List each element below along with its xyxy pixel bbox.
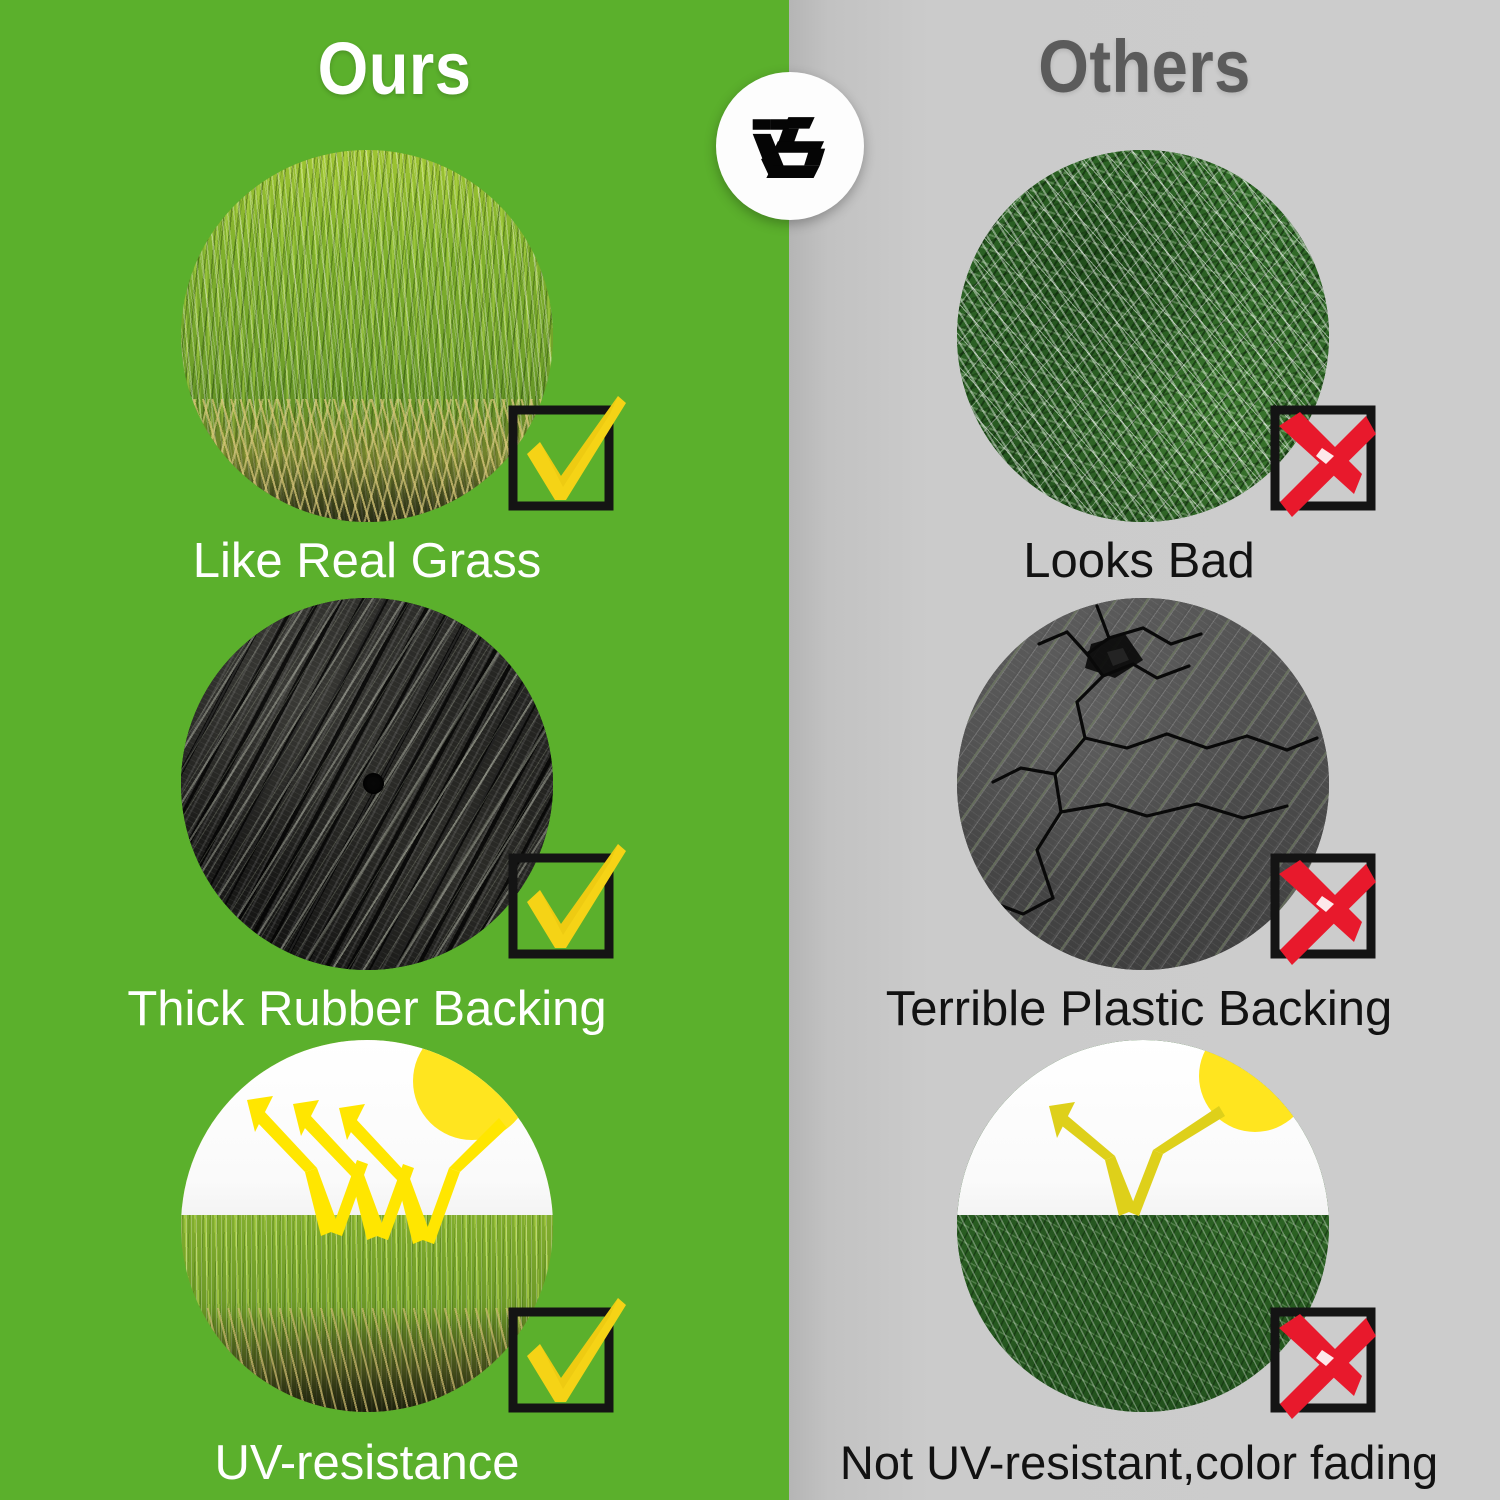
cell-others-backing: Terrible Plastic Backing [750, 588, 1500, 1048]
column-title-ours: Ours [47, 32, 741, 106]
vs-badge [716, 72, 864, 220]
cross-mark-badge-appearance [1262, 390, 1392, 520]
row-appearance: Like Real Grass Looks Bad [0, 140, 1500, 600]
cell-ours-appearance: Like Real Grass [0, 140, 750, 600]
check-mark-icon [500, 1292, 630, 1422]
check-mark-badge-uv [500, 1292, 630, 1422]
caption-others-appearance: Looks Bad [764, 536, 1500, 587]
caption-ours-backing: Thick Rubber Backing [0, 984, 742, 1035]
check-mark-badge-backing [500, 838, 630, 968]
image-rubber-backing-texture [181, 598, 553, 970]
column-title-others: Others [832, 30, 1458, 104]
vs-badge-icon [738, 94, 843, 199]
cross-mark-icon [1262, 1292, 1392, 1422]
caption-ours-appearance: Like Real Grass [0, 536, 742, 587]
cell-others-uv: Not UV-resistant,color fading [750, 1030, 1500, 1500]
image-uv-reflection-diagram-good [181, 1040, 553, 1412]
caption-others-uv: Not UV-resistant,color fading [764, 1438, 1500, 1487]
check-mark-badge-appearance [500, 390, 630, 520]
row-uv: UV-resistance [0, 1030, 1500, 1500]
check-mark-icon [500, 838, 630, 968]
row-backing: Thick Rubber Backing [0, 588, 1500, 1048]
cell-others-appearance: Looks Bad [750, 140, 1500, 600]
caption-others-backing: Terrible Plastic Backing [764, 984, 1500, 1035]
cell-ours-backing: Thick Rubber Backing [0, 588, 750, 1048]
cross-mark-badge-uv [1262, 1292, 1392, 1422]
image-grass-closeup-lush [181, 150, 553, 522]
cell-ours-uv: UV-resistance [0, 1030, 750, 1500]
uv-reflect-arrow-icon [181, 1040, 553, 1412]
cross-mark-icon [1262, 390, 1392, 520]
comparison-infographic: Ours Others [0, 0, 1500, 1500]
caption-ours-uv: UV-resistance [0, 1438, 742, 1489]
cross-mark-badge-backing [1262, 838, 1392, 968]
cross-mark-icon [1262, 838, 1392, 968]
check-mark-icon [500, 390, 630, 520]
